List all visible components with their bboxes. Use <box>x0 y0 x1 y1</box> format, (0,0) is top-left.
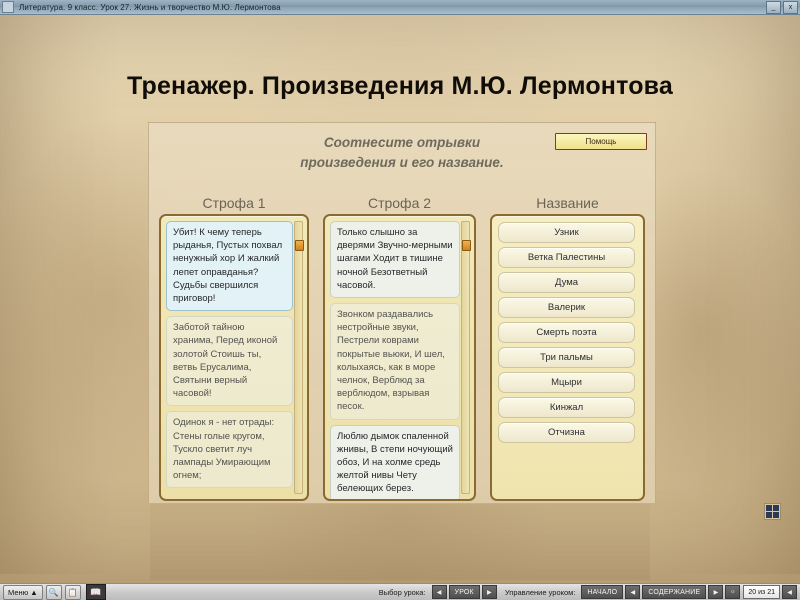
dropzone-names[interactable]: Узник Ветка Палестины Дума Валерик Смерт… <box>490 214 645 501</box>
name-button[interactable]: Мцыри <box>498 372 635 393</box>
book-icon[interactable]: 📖 <box>86 584 106 600</box>
fragment-card[interactable]: Заботой тайною хранима, Перед иконой зол… <box>166 316 293 406</box>
status-bar-right: Выбор урока: ◀ УРОК ▶ Управление уроком:… <box>371 585 800 599</box>
help-button[interactable]: Помощь <box>555 133 647 150</box>
start-button[interactable]: НАЧАЛО <box>581 585 623 599</box>
lesson-value[interactable]: УРОК <box>449 585 480 599</box>
pointer-icon[interactable]: ☼ <box>725 585 740 599</box>
exercise-panel: Соотнесите отрывки произведения и его на… <box>148 122 656 504</box>
column-header-strofa-2: Строфа 2 <box>323 195 476 214</box>
name-button-list: Узник Ветка Палестины Дума Валерик Смерт… <box>498 222 635 447</box>
close-button[interactable]: x <box>783 1 798 14</box>
copy-icon[interactable]: 📋 <box>65 585 81 600</box>
search-icon[interactable]: 🔍 <box>46 585 62 600</box>
page-indicator: 20 из 21 <box>743 585 780 599</box>
chevron-up-icon: ▲ <box>30 588 37 597</box>
status-bar: Меню ▲ 🔍 📋 📖 Выбор урока: ◀ УРОК ▶ Управ… <box>0 583 800 600</box>
columns-area: Строфа 1 Убит! К чему теперь рыданья, Пу… <box>149 195 655 501</box>
window-controls: _ x <box>766 1 800 14</box>
name-button[interactable]: Отчизна <box>498 422 635 443</box>
scrollbar-thumb-2[interactable] <box>462 240 471 251</box>
lesson-next-button[interactable]: ▶ <box>482 585 497 599</box>
fragment-card[interactable]: Только слышно за дверями Звучно-мерными … <box>330 221 460 298</box>
lesson-control-label: Управление уроком: <box>505 588 576 597</box>
scrollbar-thumb-1[interactable] <box>295 240 304 251</box>
name-button[interactable]: Дума <box>498 272 635 293</box>
dropzone-strofa-2[interactable]: Только слышно за дверями Звучно-мерными … <box>323 214 476 501</box>
fragment-list-2: Только слышно за дверями Звучно-мерными … <box>330 221 460 499</box>
lesson-prev-button[interactable]: ◀ <box>432 585 447 599</box>
name-button[interactable]: Ветка Палестины <box>498 247 635 268</box>
name-button[interactable]: Кинжал <box>498 397 635 418</box>
column-strofa-2: Строфа 2 Только слышно за дверями Звучно… <box>323 195 476 501</box>
back-button[interactable]: ◀ <box>625 585 640 599</box>
dropzone-strofa-1[interactable]: Убит! К чему теперь рыданья, Пустых похв… <box>159 214 309 501</box>
scrollbar-track-2[interactable] <box>461 221 470 494</box>
contents-button[interactable]: СОДЕРЖАНИЕ <box>642 585 706 599</box>
page-next-button[interactable]: ◀ <box>782 585 797 599</box>
application-window: Литература. 9 класс. Урок 27. Жизнь и тв… <box>0 0 800 600</box>
forward-button[interactable]: ▶ <box>708 585 723 599</box>
fragment-card[interactable]: Убит! К чему теперь рыданья, Пустых похв… <box>166 221 293 311</box>
name-button[interactable]: Валерик <box>498 297 635 318</box>
window-title: Литература. 9 класс. Урок 27. Жизнь и тв… <box>19 3 281 12</box>
column-names: Название Узник Ветка Палестины Дума Вале… <box>490 195 645 501</box>
column-header-strofa-1: Строфа 1 <box>159 195 309 214</box>
fragment-list-1: Убит! К чему теперь рыданья, Пустых похв… <box>166 221 293 499</box>
window-titlebar: Литература. 9 класс. Урок 27. Жизнь и тв… <box>0 0 800 15</box>
app-icon <box>2 1 14 13</box>
fragment-card[interactable]: Одинок я - нет отрады: Стены голые круго… <box>166 411 293 488</box>
scrollbar-track-1[interactable] <box>294 221 303 494</box>
resize-grip[interactable] <box>764 503 781 520</box>
column-header-names: Название <box>490 195 645 214</box>
page-title: Тренажер. Произведения М.Ю. Лермонтова <box>0 72 800 101</box>
name-button[interactable]: Три пальмы <box>498 347 635 368</box>
menu-label: Меню <box>8 588 28 597</box>
column-strofa-1: Строфа 1 Убит! К чему теперь рыданья, Пу… <box>159 195 309 501</box>
minimize-button[interactable]: _ <box>766 1 781 14</box>
name-button[interactable]: Смерть поэта <box>498 322 635 343</box>
fragment-card[interactable]: Люблю дымок спаленной жнивы, В степи ноч… <box>330 425 460 501</box>
menu-button[interactable]: Меню ▲ <box>3 585 43 600</box>
instruction-line-2: произведения и его название. <box>149 153 655 173</box>
fragment-card[interactable]: Звонком раздавались нестройные звуки, Пе… <box>330 303 460 420</box>
name-button[interactable]: Узник <box>498 222 635 243</box>
lesson-select-label: Выбор урока: <box>379 588 426 597</box>
